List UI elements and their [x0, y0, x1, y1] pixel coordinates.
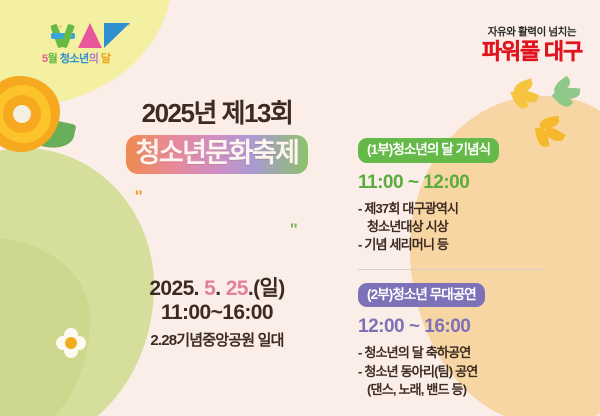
event-time: 11:00~16:00: [86, 301, 348, 326]
logo-glyph-group: [42, 22, 162, 48]
marigold-flower-icon: [0, 76, 76, 162]
list-item: 청소년대상 시상: [358, 218, 548, 236]
event-details: 2025. 5. 25.(일) 11:00~16:00 2.28기념중앙공원 일…: [86, 277, 348, 351]
daegu-city-brand: 자유와 활력이 넘치는 파워풀 대구: [482, 24, 582, 63]
daegu-brand-mark: 파워풀 대구: [482, 41, 582, 63]
slogan-line-2: 청소년 빛나 봄": [86, 220, 348, 253]
program-items-part1: - 제37회 대구광역시 청소년대상 시상 - 기념 세리머니 등: [358, 200, 548, 255]
daisy-core: [65, 337, 77, 349]
yellow-leaf-sprig-icon: [508, 80, 546, 112]
date-weekday: .(일): [248, 277, 285, 300]
petal-inner: [3, 95, 41, 133]
daegu-tagline: 자유와 활력이 넘치는: [482, 24, 582, 39]
slogan-word: 청소년: [141, 188, 211, 218]
date-month: 5: [204, 277, 215, 300]
logo-caption-month: 월: [48, 53, 58, 65]
list-item: - 기념 세리머니 등: [358, 236, 548, 254]
slogan-word: 꿈꿔: [217, 188, 264, 218]
list-item: (댄스, 노래, 밴드 등): [358, 381, 548, 399]
close-quote: ": [290, 220, 297, 239]
left-green-blob-secondary: [0, 238, 90, 416]
slogan-word: 봄,: [270, 188, 299, 218]
date-day: 25: [226, 277, 248, 300]
main-content-left: 2025년 제13회 청소년문화축제 "청소년 꿈꿔 봄, 청소년 빛나 봄" …: [86, 100, 348, 350]
slogan-line-1: "청소년 꿈꿔 봄,: [86, 187, 348, 220]
daisy-petal: [72, 336, 86, 350]
logo-caption-month-word: 달: [101, 53, 111, 65]
slogan-word: 청소년: [138, 221, 208, 251]
event-venue: 2.28기념중앙공원 일대: [86, 329, 348, 350]
logo-caption-youth: 청소년: [60, 53, 89, 65]
petal-middle: [0, 85, 51, 143]
festival-title: 청소년문화축제: [126, 135, 309, 174]
logo-green-glyph: [50, 24, 76, 48]
youth-month-logo: 5월 청소년의 달: [42, 22, 162, 70]
program-time-part2: 12:00 ~ 16:00: [358, 317, 548, 336]
daisy-petal: [64, 344, 78, 358]
date-separator: .: [215, 277, 225, 300]
date-year: 2025.: [149, 277, 204, 300]
program-time-part1: 11:00 ~ 12:00: [358, 173, 548, 192]
program-section-part1: (1부)청소년의 달 기념식 11:00 ~ 12:00 - 제37회 대구광역…: [358, 138, 548, 255]
logo-blue-triangle-glyph: [104, 23, 130, 48]
program-schedule: (1부)청소년의 달 기념식 11:00 ~ 12:00 - 제37회 대구광역…: [358, 138, 548, 400]
program-badge-part1: (1부)청소년의 달 기념식: [358, 138, 499, 163]
festival-poster: 5월 청소년의 달 자유와 활력이 넘치는 파워풀 대구 2025년 제13회 …: [0, 0, 600, 416]
logo-caption: 5월 청소년의 달: [42, 50, 162, 66]
daisy-petal: [64, 328, 78, 342]
petal-outer: [0, 76, 60, 152]
program-items-part2: - 청소년의 달 축하공연 - 청소년 동아리(팀) 공연 (댄스, 노래, 밴…: [358, 344, 548, 399]
flower-core: [13, 105, 31, 123]
daisy-flower-icon: [56, 328, 86, 358]
green-leaf-sprig-icon: [550, 78, 587, 109]
event-date: 2025. 5. 25.(일): [86, 277, 348, 302]
program-divider: [358, 269, 544, 270]
program-badge-part2: (2부)청소년 무대공연: [358, 283, 485, 308]
logo-caption-possessive: 의: [89, 53, 99, 65]
list-item: - 청소년 동아리(팀) 공연: [358, 363, 548, 381]
logo-pink-triangle-glyph: [78, 23, 102, 48]
slogan-word: 빛나: [214, 221, 261, 251]
daisy-petal: [56, 336, 70, 350]
list-item: - 청소년의 달 축하공연: [358, 344, 548, 362]
slogan-word: 봄: [266, 221, 289, 251]
leaf-shape: [28, 116, 77, 153]
festival-slogan: "청소년 꿈꿔 봄, 청소년 빛나 봄": [86, 187, 348, 253]
headline-year: 2025년 제13회: [86, 100, 348, 126]
program-section-part2: (2부)청소년 무대공연 12:00 ~ 16:00 - 청소년의 달 축하공연…: [358, 283, 548, 400]
list-item: - 제37회 대구광역시: [358, 200, 548, 218]
